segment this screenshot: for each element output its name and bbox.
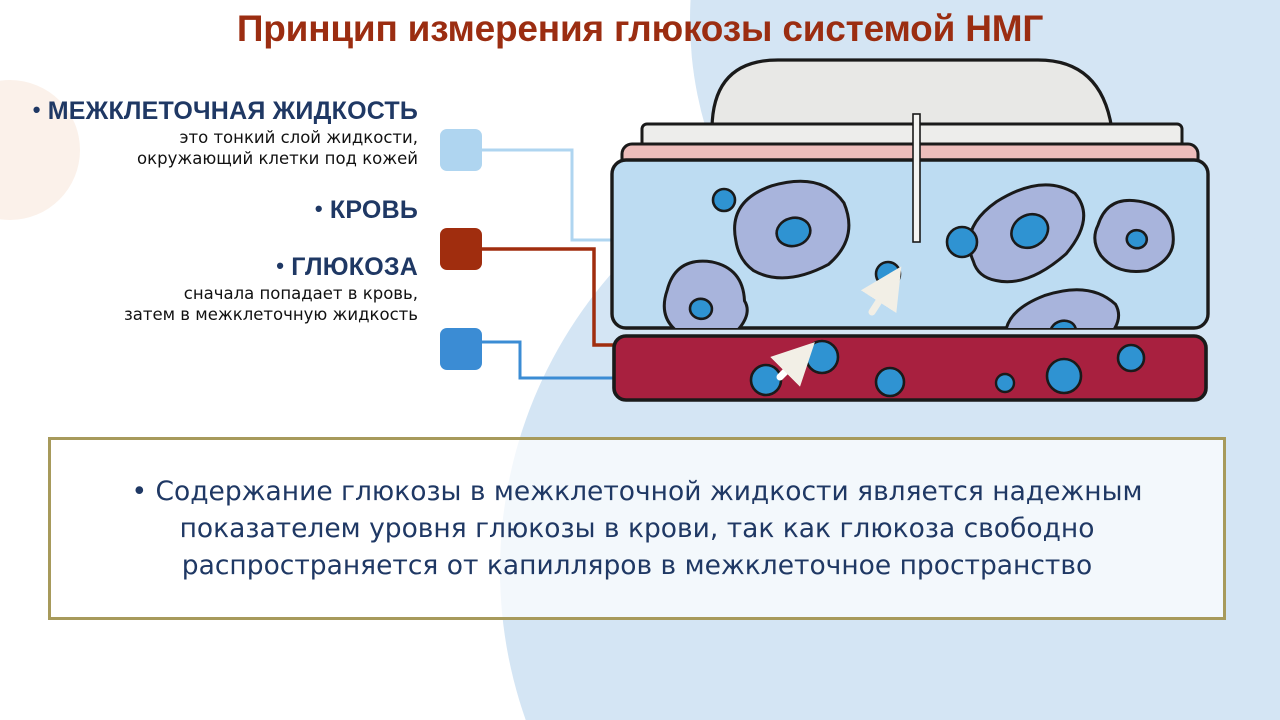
legend-heading-blood: • КРОВЬ: [18, 195, 418, 224]
legend-item-glucose: • ГЛЮКОЗА сначала попадает в кровь, зате…: [18, 252, 418, 325]
slide-canvas: Принцип измерения глюкозы системой НМГ •…: [0, 0, 1280, 720]
blood-capillary-layer: [614, 336, 1206, 400]
legend-description-line-1: сначала попадает в кровь,: [18, 283, 418, 304]
legend-swatch-blood: [440, 228, 482, 270]
legend-heading-text: КРОВЬ: [330, 196, 418, 224]
legend-heading-glucose: • ГЛЮКОЗА: [18, 252, 418, 281]
legend-description-line-2: затем в межклеточную жидкость: [18, 304, 418, 325]
legend-item-interstitial-fluid: • МЕЖКЛЕТОЧНАЯ ЖИДКОСТЬ это тонкий слой …: [18, 96, 418, 169]
legend-description-line-2: окружающий клетки под кожей: [18, 148, 418, 169]
legend-heading-text: ГЛЮКОЗА: [291, 253, 418, 281]
bullet-icon: •: [33, 97, 41, 122]
legend-list: • МЕЖКЛЕТОЧНАЯ ЖИДКОСТЬ это тонкий слой …: [18, 96, 418, 327]
legend-description-interstitial-fluid: это тонкий слой жидкости, окружающий кле…: [18, 127, 418, 169]
bullet-icon: •: [276, 253, 284, 278]
legend-heading-text: МЕЖКЛЕТОЧНАЯ ЖИДКОСТЬ: [48, 97, 418, 125]
bullet-icon: •: [315, 196, 323, 221]
sensor-filament-needle: [913, 114, 920, 242]
legend-description-glucose: сначала попадает в кровь, затем в межкле…: [18, 283, 418, 325]
legend-description-line-1: это тонкий слой жидкости,: [18, 127, 418, 148]
cgm-sensor-diagram: [600, 52, 1220, 402]
conclusion-box: • Содержание глюкозы в межклеточной жидк…: [48, 437, 1226, 620]
conclusion-text: • Содержание глюкозы в межклеточной жидк…: [51, 473, 1223, 584]
legend-swatch-interstitial-fluid: [440, 129, 482, 171]
slide-title: Принцип измерения глюкозы системой НМГ: [0, 8, 1280, 50]
legend-item-blood: • КРОВЬ: [18, 195, 418, 224]
legend-swatch-glucose: [440, 328, 482, 370]
legend-heading-interstitial-fluid: • МЕЖКЛЕТОЧНАЯ ЖИДКОСТЬ: [18, 96, 418, 125]
sensor-transmitter-body: [712, 60, 1112, 130]
